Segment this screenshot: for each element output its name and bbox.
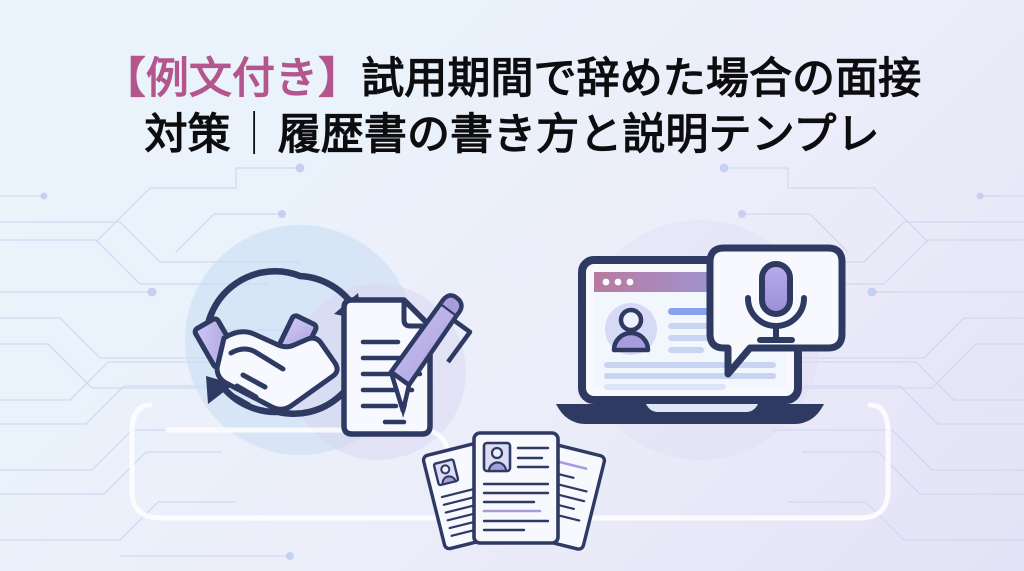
avatar <box>605 303 657 355</box>
title-line-1-rest: 試用期間で辞めた場合の面接 <box>361 55 921 103</box>
laptop-notch <box>646 404 758 412</box>
microphone-capsule <box>762 264 790 314</box>
browser-dots <box>603 279 634 286</box>
hero-banner: 【例文付き】試用期間で辞めた場合の面接 対策｜履歴書の書き方と説明テンプレ <box>0 0 1024 571</box>
hero-illustration <box>0 190 1024 571</box>
title-line-2: 対策｜履歴書の書き方と説明テンプレ <box>0 108 1024 164</box>
resume-card-center <box>474 433 558 543</box>
resume-stack-icon <box>422 433 605 550</box>
title-line-2-after: 履歴書の書き方と説明テンプレ <box>278 111 880 159</box>
title-line-1: 【例文付き】試用期間で辞めた場合の面接 <box>0 52 1024 108</box>
title-accent-bracket: 【例文付き】 <box>103 55 361 103</box>
title-line-2-before: 対策 <box>144 111 230 159</box>
page-title: 【例文付き】試用期間で辞めた場合の面接 対策｜履歴書の書き方と説明テンプレ <box>0 52 1024 164</box>
title-separator: ｜ <box>231 111 278 159</box>
